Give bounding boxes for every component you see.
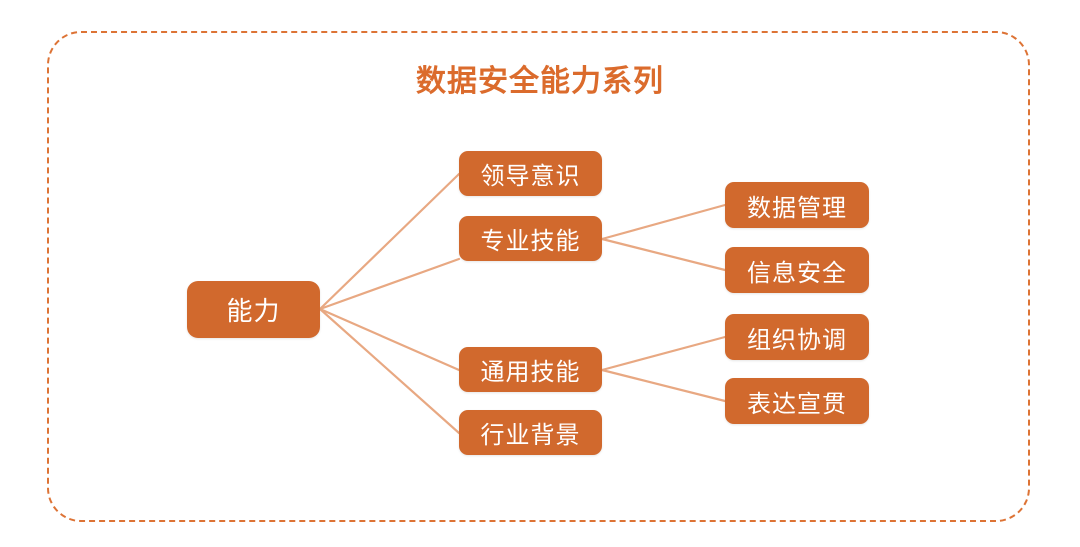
diagram-canvas: 数据安全能力系列 能力 领导意识 专业技能 通用技能 行业背景 数据管理 信息安… [0,0,1080,547]
node-leadership-awareness[interactable]: 领导意识 [459,151,602,196]
page-title: 数据安全能力系列 [0,62,1080,102]
node-industry-background[interactable]: 行业背景 [459,410,602,455]
node-information-security[interactable]: 信息安全 [725,247,869,293]
node-expression-promotion[interactable]: 表达宣贯 [725,378,869,424]
node-data-management[interactable]: 数据管理 [725,182,869,228]
node-root-capability[interactable]: 能力 [187,281,320,338]
node-general-skills[interactable]: 通用技能 [459,347,602,392]
node-professional-skills[interactable]: 专业技能 [459,216,602,261]
node-organizational-coordination[interactable]: 组织协调 [725,314,869,360]
